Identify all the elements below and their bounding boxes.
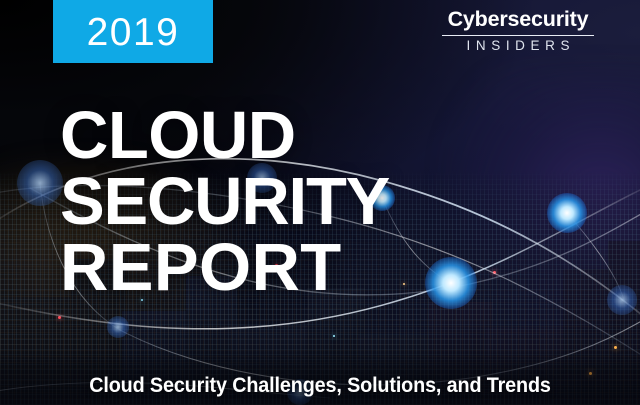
network-node	[17, 160, 63, 206]
title-line-3: REPORT	[60, 235, 389, 301]
network-node	[547, 193, 587, 233]
year-badge-label: 2019	[87, 9, 180, 52]
subtitle: Cloud Security Challenges, Solutions, an…	[26, 375, 615, 397]
year-badge: 2019	[53, 0, 213, 63]
network-node	[107, 316, 129, 338]
network-node	[425, 257, 477, 309]
logo-primary-text: Cybersecurity	[442, 9, 594, 31]
logo-secondary-text: INSIDERS	[442, 39, 594, 53]
page-title: CLOUD SECURITY REPORT	[60, 103, 389, 301]
report-cover: 2019 Cybersecurity INSIDERS CLOUD SECURI…	[0, 0, 640, 405]
publisher-logo: Cybersecurity INSIDERS	[442, 9, 594, 53]
network-node	[607, 285, 637, 315]
title-line-1: CLOUD	[60, 103, 389, 169]
title-line-2: SECURITY	[60, 169, 389, 235]
logo-divider-rule	[442, 35, 594, 37]
